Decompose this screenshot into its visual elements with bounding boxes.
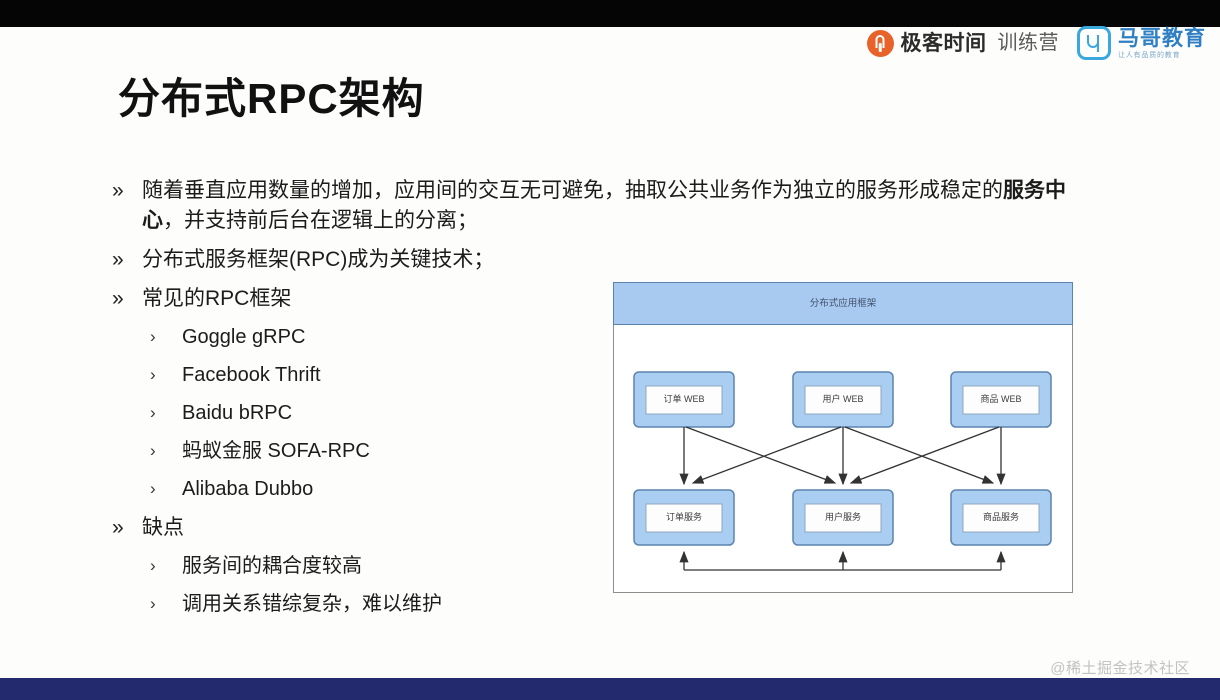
- bullet-item-2: » 分布式服务框架(RPC)成为关键技术；: [112, 245, 612, 275]
- bullet-text-2: 分布式服务框架(RPC)成为关键技术；: [142, 245, 494, 275]
- diagram-svg: [613, 282, 1073, 593]
- geek-time-sub: 训练营: [998, 33, 1060, 53]
- rpc-framework-label: 蚂蚁金服 SOFA-RPC: [182, 437, 370, 465]
- list-item: › 服务间的耦合度较高: [112, 552, 612, 580]
- bullet-text-1-after: ，并支持前后台在逻辑上的分离；: [163, 209, 478, 232]
- list-item: › 调用关系错综复杂，难以维护: [112, 590, 612, 618]
- service-tier-group: [634, 490, 1051, 545]
- sub-bullet-marker: ›: [150, 361, 182, 389]
- sub-bullet-marker: ›: [150, 590, 182, 618]
- mage-education-square-icon: [1077, 26, 1111, 60]
- sub-bullet-marker: ›: [150, 552, 182, 580]
- bullet-text-1: 随着垂直应用数量的增加，应用间的交互无可避免，抽取公共业务作为独立的服务形成稳定…: [142, 176, 1102, 236]
- list-item: › Alibaba Dubbo: [112, 475, 612, 503]
- bullet-marker: »: [112, 284, 142, 314]
- mage-education-name: 马哥教育: [1118, 28, 1206, 49]
- web-box-user-inner: [805, 386, 881, 414]
- bullet-item-3: » 常见的RPC框架: [112, 284, 612, 314]
- rpc-framework-list: › Goggle gRPC › Facebook Thrift › Baidu …: [112, 323, 612, 503]
- rpc-framework-label: Facebook Thrift: [182, 361, 321, 389]
- slide-root: 极客时间 训练营 马哥教育 让人有品质的教育 分布式RPC架构 » 随着垂直应用…: [0, 0, 1220, 700]
- sub-bullet-marker: ›: [150, 475, 182, 503]
- bullet-text-1-before: 随着垂直应用数量的增加，应用间的交互无可避免，抽取公共业务作为独立的服务形成稳定…: [142, 179, 1003, 202]
- web-tier-group: [634, 372, 1051, 427]
- geek-time-circle-icon: [867, 30, 894, 57]
- mage-education-logo: 马哥教育 让人有品质的教育: [1077, 26, 1206, 60]
- web-box-product-inner: [963, 386, 1039, 414]
- diagram-header-band: [614, 283, 1073, 325]
- top-black-bar: [0, 0, 1220, 27]
- list-item: › Baidu bRPC: [112, 399, 612, 427]
- drawback-label: 服务间的耦合度较高: [182, 552, 362, 580]
- logo-group: 极客时间 训练营 马哥教育 让人有品质的教育: [867, 26, 1207, 60]
- rpc-framework-label: Goggle gRPC: [182, 323, 305, 351]
- service-box-product-inner: [963, 504, 1039, 532]
- drawback-label: 调用关系错综复杂，难以维护: [182, 590, 442, 618]
- service-box-user-inner: [805, 504, 881, 532]
- drawback-list: › 服务间的耦合度较高 › 调用关系错综复杂，难以维护: [112, 552, 612, 618]
- architecture-diagram: 分布式应用框架 订单 WEB 用户 WEB 商品 WEB 订单服务 用户服务 商…: [613, 282, 1073, 593]
- page-title: 分布式RPC架构: [118, 78, 425, 120]
- list-item: › Goggle gRPC: [112, 323, 612, 351]
- bullet-marker: »: [112, 513, 142, 543]
- rpc-framework-label: Baidu bRPC: [182, 399, 292, 427]
- list-item: › Facebook Thrift: [112, 361, 612, 389]
- bullet-marker: »: [112, 245, 142, 275]
- mage-education-slogan: 让人有品质的教育: [1118, 52, 1206, 59]
- geek-time-logo: 极客时间 训练营: [867, 30, 1060, 57]
- sub-bullet-marker: ›: [150, 323, 182, 351]
- geek-time-name: 极客时间: [901, 33, 987, 54]
- rpc-framework-label: Alibaba Dubbo: [182, 475, 313, 503]
- service-box-order-inner: [646, 504, 722, 532]
- bullet-text-4: 缺点: [142, 513, 184, 543]
- web-box-order-inner: [646, 386, 722, 414]
- watermark: @稀土掘金技术社区: [1050, 657, 1190, 678]
- bullet-text-3: 常见的RPC框架: [142, 284, 291, 314]
- bullet-item-1: » 随着垂直应用数量的增加，应用间的交互无可避免，抽取公共业务作为独立的服务形成…: [112, 176, 1102, 236]
- sub-bullet-marker: ›: [150, 399, 182, 427]
- sub-bullet-marker: ›: [150, 437, 182, 465]
- list-item: › 蚂蚁金服 SOFA-RPC: [112, 437, 612, 465]
- bullet-item-4: » 缺点: [112, 513, 612, 543]
- bottom-navy-bar: [0, 678, 1220, 700]
- bullet-marker: »: [112, 176, 142, 206]
- bullet-content: » 随着垂直应用数量的增加，应用间的交互无可避免，抽取公共业务作为独立的服务形成…: [112, 176, 612, 628]
- mage-education-text: 马哥教育 让人有品质的教育: [1118, 28, 1206, 59]
